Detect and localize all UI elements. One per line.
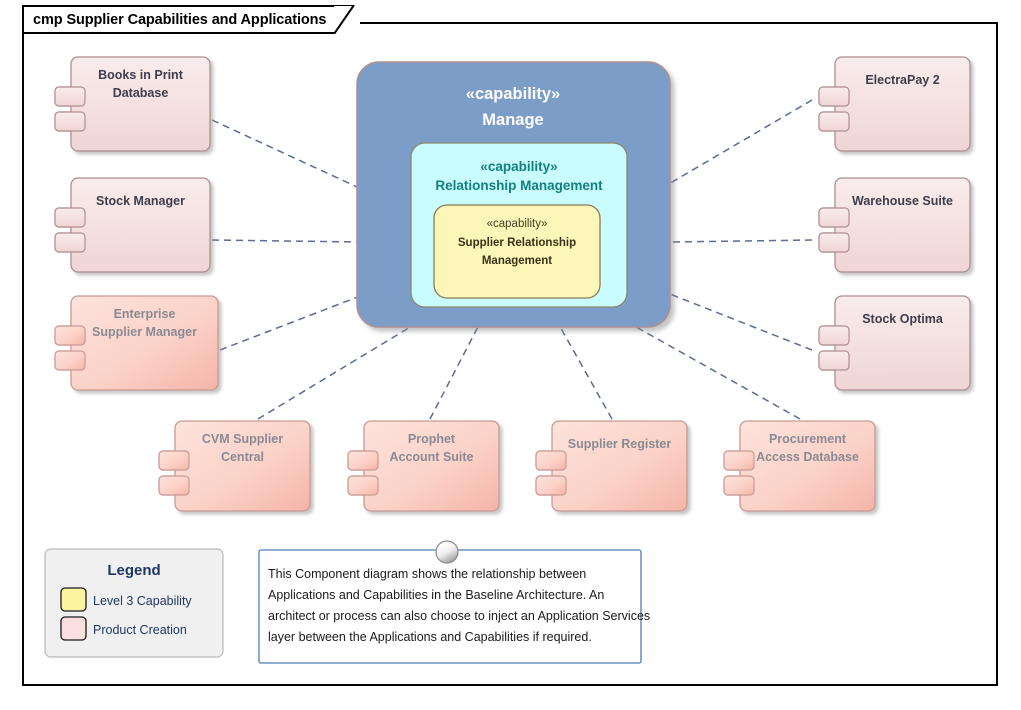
component-label-line2: Account Suite <box>389 450 473 464</box>
component-port-tab-lower-overlay[interactable] <box>55 351 85 370</box>
legend-swatch <box>61 588 86 611</box>
note-text-line: Applications and Capabilities in the Bas… <box>268 588 604 602</box>
legend-box: LegendLevel 3 CapabilityProduct Creation <box>45 549 223 657</box>
component-label-line1: Supplier Register <box>568 437 672 451</box>
component-port-tab-lower-overlay[interactable] <box>819 351 849 370</box>
node-layer: «capability»Manage«capability»Relationsh… <box>0 0 1021 710</box>
component-label-line2: Database <box>113 86 169 100</box>
component-port-tab-upper-overlay[interactable] <box>819 326 849 345</box>
legend-label: Product Creation <box>93 623 187 637</box>
component-port-tab-lower-overlay[interactable] <box>819 112 849 131</box>
component-label-line2: Central <box>221 450 264 464</box>
component-label-line1: Procurement <box>769 432 847 446</box>
component-enterprise-supplier-manager[interactable]: EnterpriseSupplier Manager <box>55 296 218 390</box>
component-label-line2: Supplier Manager <box>92 325 197 339</box>
component-procurement-access-database[interactable]: ProcurementAccess Database <box>724 421 875 511</box>
note-text-line: architect or process can also choose to … <box>268 609 650 623</box>
component-label-line1: Prophet <box>408 432 456 446</box>
component-label-line1: ElectraPay 2 <box>865 73 939 87</box>
component-port-tab-upper-overlay[interactable] <box>536 451 566 470</box>
component-port-tab-upper-overlay[interactable] <box>819 208 849 227</box>
diagram-title: cmp Supplier Capabilities and Applicatio… <box>33 12 326 28</box>
component-label-line1: Enterprise <box>114 307 176 321</box>
note-anchor-sphere[interactable] <box>436 541 458 563</box>
note-box: This Component diagram shows the relatio… <box>259 541 650 663</box>
component-body[interactable] <box>71 178 210 272</box>
component-supplier-register[interactable]: Supplier Register <box>536 421 687 511</box>
component-stock-optima[interactable]: Stock Optima <box>819 296 970 390</box>
component-books-in-print-database[interactable]: Books in PrintDatabase <box>55 57 210 151</box>
component-label-line2: Access Database <box>756 450 859 464</box>
component-body[interactable] <box>835 57 970 151</box>
legend-swatch <box>61 617 86 640</box>
component-warehouse-suite[interactable]: Warehouse Suite <box>819 178 970 272</box>
component-body[interactable] <box>835 296 970 390</box>
component-port-tab-upper-overlay[interactable] <box>819 87 849 106</box>
capability-manage-name: Manage <box>482 111 543 129</box>
component-label-line1: Warehouse Suite <box>852 194 953 208</box>
component-port-tab-lower-overlay[interactable] <box>55 233 85 252</box>
legend-title: Legend <box>107 562 160 579</box>
capability-relationship-management-name: Relationship Management <box>435 178 603 193</box>
capability-supplier-relationship-management-name-line1: Supplier Relationship <box>458 237 576 249</box>
component-port-tab-upper-overlay[interactable] <box>724 451 754 470</box>
component-port-tab-lower-overlay[interactable] <box>55 112 85 131</box>
component-port-tab-lower-overlay[interactable] <box>819 233 849 252</box>
note-text-line: This Component diagram shows the relatio… <box>268 567 586 581</box>
component-port-tab-lower-overlay[interactable] <box>724 476 754 495</box>
component-stock-manager[interactable]: Stock Manager <box>55 178 210 272</box>
component-label-line1: Stock Manager <box>96 194 185 208</box>
note-text-line: layer between the Applications and Capab… <box>268 630 592 644</box>
component-port-tab-upper-overlay[interactable] <box>348 451 378 470</box>
component-port-tab-upper-overlay[interactable] <box>159 451 189 470</box>
capability-manage-stereotype: «capability» <box>466 85 560 103</box>
component-port-tab-upper-overlay[interactable] <box>55 326 85 345</box>
frame-tab-corner <box>334 5 360 34</box>
component-port-tab-upper-overlay[interactable] <box>55 208 85 227</box>
component-body[interactable] <box>552 421 687 511</box>
component-port-tab-lower-overlay[interactable] <box>348 476 378 495</box>
component-diagram-canvas: cmp Supplier Capabilities and Applicatio… <box>0 0 1021 710</box>
capability-supplier-relationship-management-stereotype: «capability» <box>487 218 548 230</box>
component-cvm-supplier-central[interactable]: CVM SupplierCentral <box>159 421 310 511</box>
component-label-line1: Books in Print <box>98 68 184 82</box>
capability-group: «capability»Manage«capability»Relationsh… <box>357 62 670 327</box>
component-port-tab-lower-overlay[interactable] <box>536 476 566 495</box>
component-label-line1: CVM Supplier <box>202 432 283 446</box>
component-prophet-account-suite[interactable]: ProphetAccount Suite <box>348 421 499 511</box>
component-body[interactable] <box>835 178 970 272</box>
legend-label: Level 3 Capability <box>93 594 192 608</box>
component-port-tab-upper-overlay[interactable] <box>55 87 85 106</box>
capability-relationship-management-stereotype: «capability» <box>480 159 557 174</box>
capability-supplier-relationship-management-name-line2: Management <box>482 255 552 267</box>
component-electrapay-2[interactable]: ElectraPay 2 <box>819 57 970 151</box>
component-port-tab-lower-overlay[interactable] <box>159 476 189 495</box>
component-label-line1: Stock Optima <box>862 312 944 326</box>
